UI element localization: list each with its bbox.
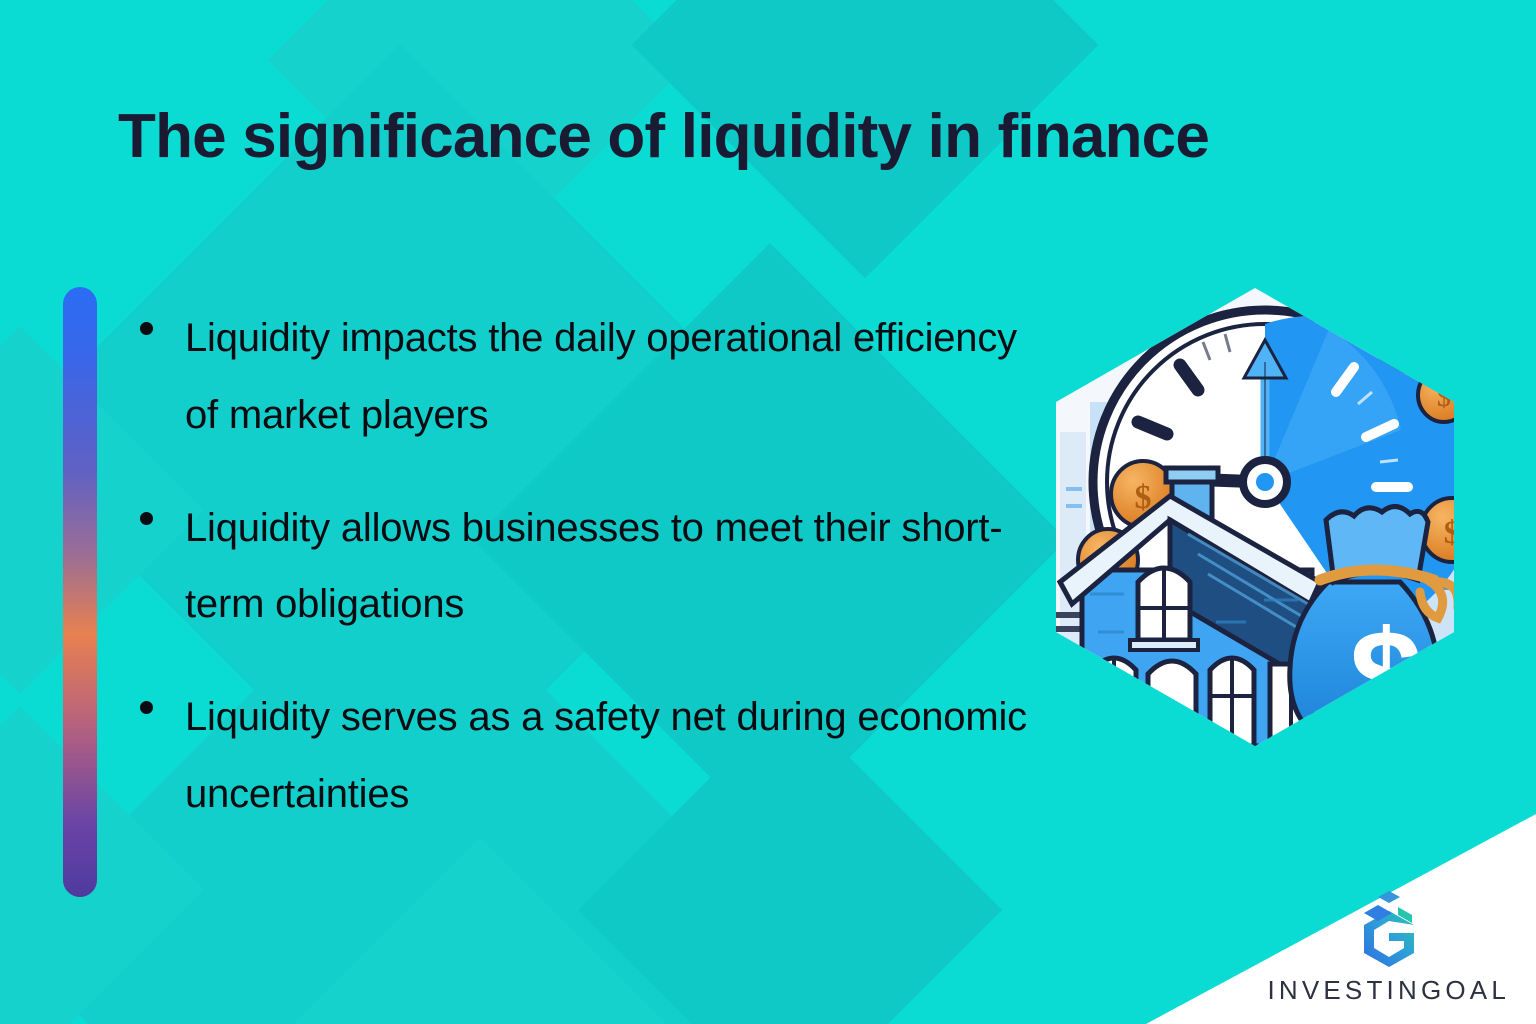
svg-text:$: $ bbox=[1437, 382, 1451, 413]
money-bag-dollar-symbol: $ bbox=[1349, 603, 1422, 750]
gradient-accent-bar bbox=[63, 287, 97, 897]
hexagon-artwork: $ $ $ $ bbox=[1020, 282, 1490, 752]
bullet-dot-icon bbox=[140, 322, 153, 335]
dollar-coin: $ bbox=[1421, 498, 1483, 562]
svg-text:$: $ bbox=[1444, 515, 1461, 551]
list-item-label: Liquidity impacts the daily operational … bbox=[185, 300, 1050, 454]
bullet-dot-icon bbox=[140, 512, 153, 525]
investingoal-hexagon-monogram-icon bbox=[1352, 889, 1426, 969]
brand-logo[interactable]: INVESTINGOAL bbox=[1267, 889, 1510, 1006]
list-item-label: Liquidity allows businesses to meet thei… bbox=[185, 490, 1050, 644]
bullet-list: Liquidity impacts the daily operational … bbox=[140, 300, 1050, 869]
infographic-canvas: The significance of liquidity in finance… bbox=[0, 0, 1536, 1024]
list-item: Liquidity serves as a safety net during … bbox=[140, 679, 1050, 833]
list-item-label: Liquidity serves as a safety net during … bbox=[185, 679, 1050, 833]
liquidity-hexagon-illustration: $ $ $ $ bbox=[1020, 282, 1490, 752]
list-item: Liquidity impacts the daily operational … bbox=[140, 300, 1050, 454]
logo-wordmark: INVESTINGOAL bbox=[1267, 975, 1510, 1006]
page-title: The significance of liquidity in finance bbox=[118, 104, 1438, 169]
list-item: Liquidity allows businesses to meet thei… bbox=[140, 490, 1050, 644]
dollar-coin: $ bbox=[1418, 368, 1470, 422]
bullet-dot-icon bbox=[140, 701, 153, 714]
